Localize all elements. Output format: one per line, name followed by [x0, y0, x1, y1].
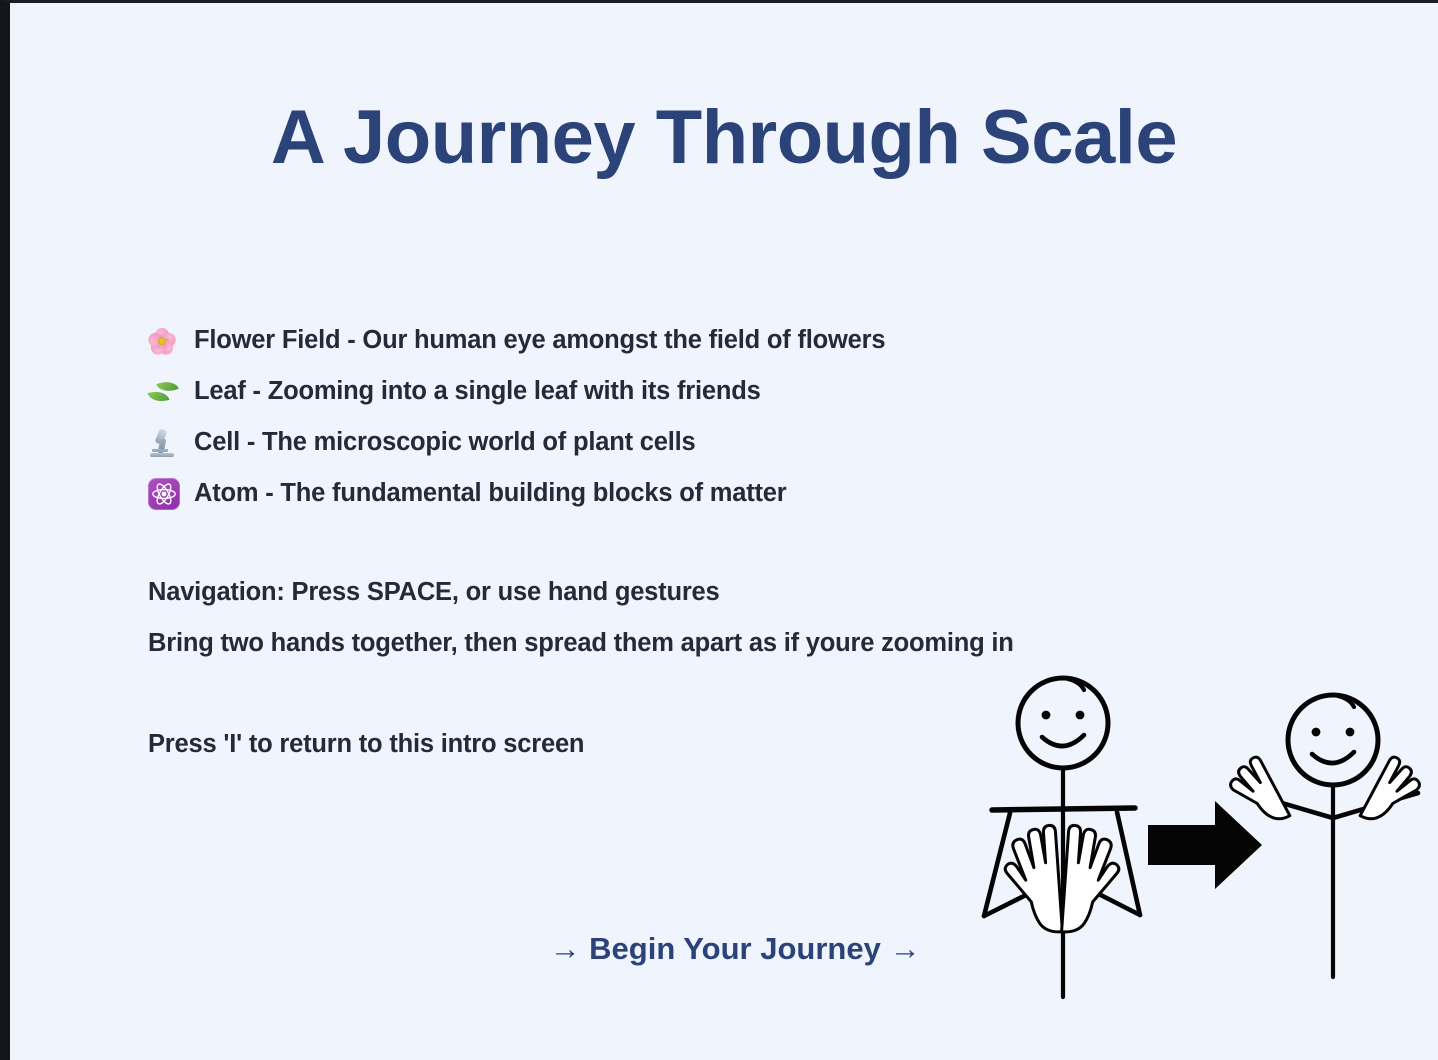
- list-item: Flower Field - Our human eye amongst the…: [148, 315, 1148, 366]
- stick-figure-arms-spread: [1248, 695, 1418, 977]
- scene-label-flower-field: Flower Field - Our human eye amongst the…: [194, 326, 885, 355]
- stick-figure-hands-together: [984, 678, 1140, 997]
- navigation-instruction-gesture: Bring two hands together, then spread th…: [148, 629, 1014, 658]
- atom-symbol-icon: [148, 478, 194, 510]
- list-item: Atom - The fundamental building blocks o…: [148, 468, 1148, 519]
- page-title: A Journey Through Scale: [10, 98, 1438, 178]
- scene-label-leaf: Leaf - Zooming into a single leaf with i…: [194, 377, 761, 406]
- scene-list: Flower Field - Our human eye amongst the…: [148, 315, 1148, 519]
- list-item: Leaf - Zooming into a single leaf with i…: [148, 366, 1148, 417]
- list-item: Cell - The microscopic world of plant ce…: [148, 417, 1148, 468]
- scene-label-atom: Atom - The fundamental building blocks o…: [194, 479, 787, 508]
- navigation-instruction-primary: Navigation: Press SPACE, or use hand ges…: [148, 578, 720, 607]
- begin-journey-button[interactable]: → Begin Your Journey →: [530, 931, 940, 967]
- scene-label-cell: Cell - The microscopic world of plant ce…: [194, 428, 696, 457]
- navigation-instruction-return: Press 'I' to return to this intro screen: [148, 730, 584, 759]
- gesture-diagram-svg: [970, 665, 1438, 1015]
- cherry-blossom-icon: [148, 326, 194, 355]
- leaf-fluttering-icon: [148, 377, 194, 406]
- intro-slide: A Journey Through Scale Flower Field - O…: [0, 0, 1438, 1060]
- pinch-to-spread-gesture-diagram: [970, 665, 1438, 1015]
- right-arrow-icon: [1148, 801, 1262, 889]
- open-hands-icon: [1224, 755, 1426, 833]
- microscope-icon: [148, 428, 194, 458]
